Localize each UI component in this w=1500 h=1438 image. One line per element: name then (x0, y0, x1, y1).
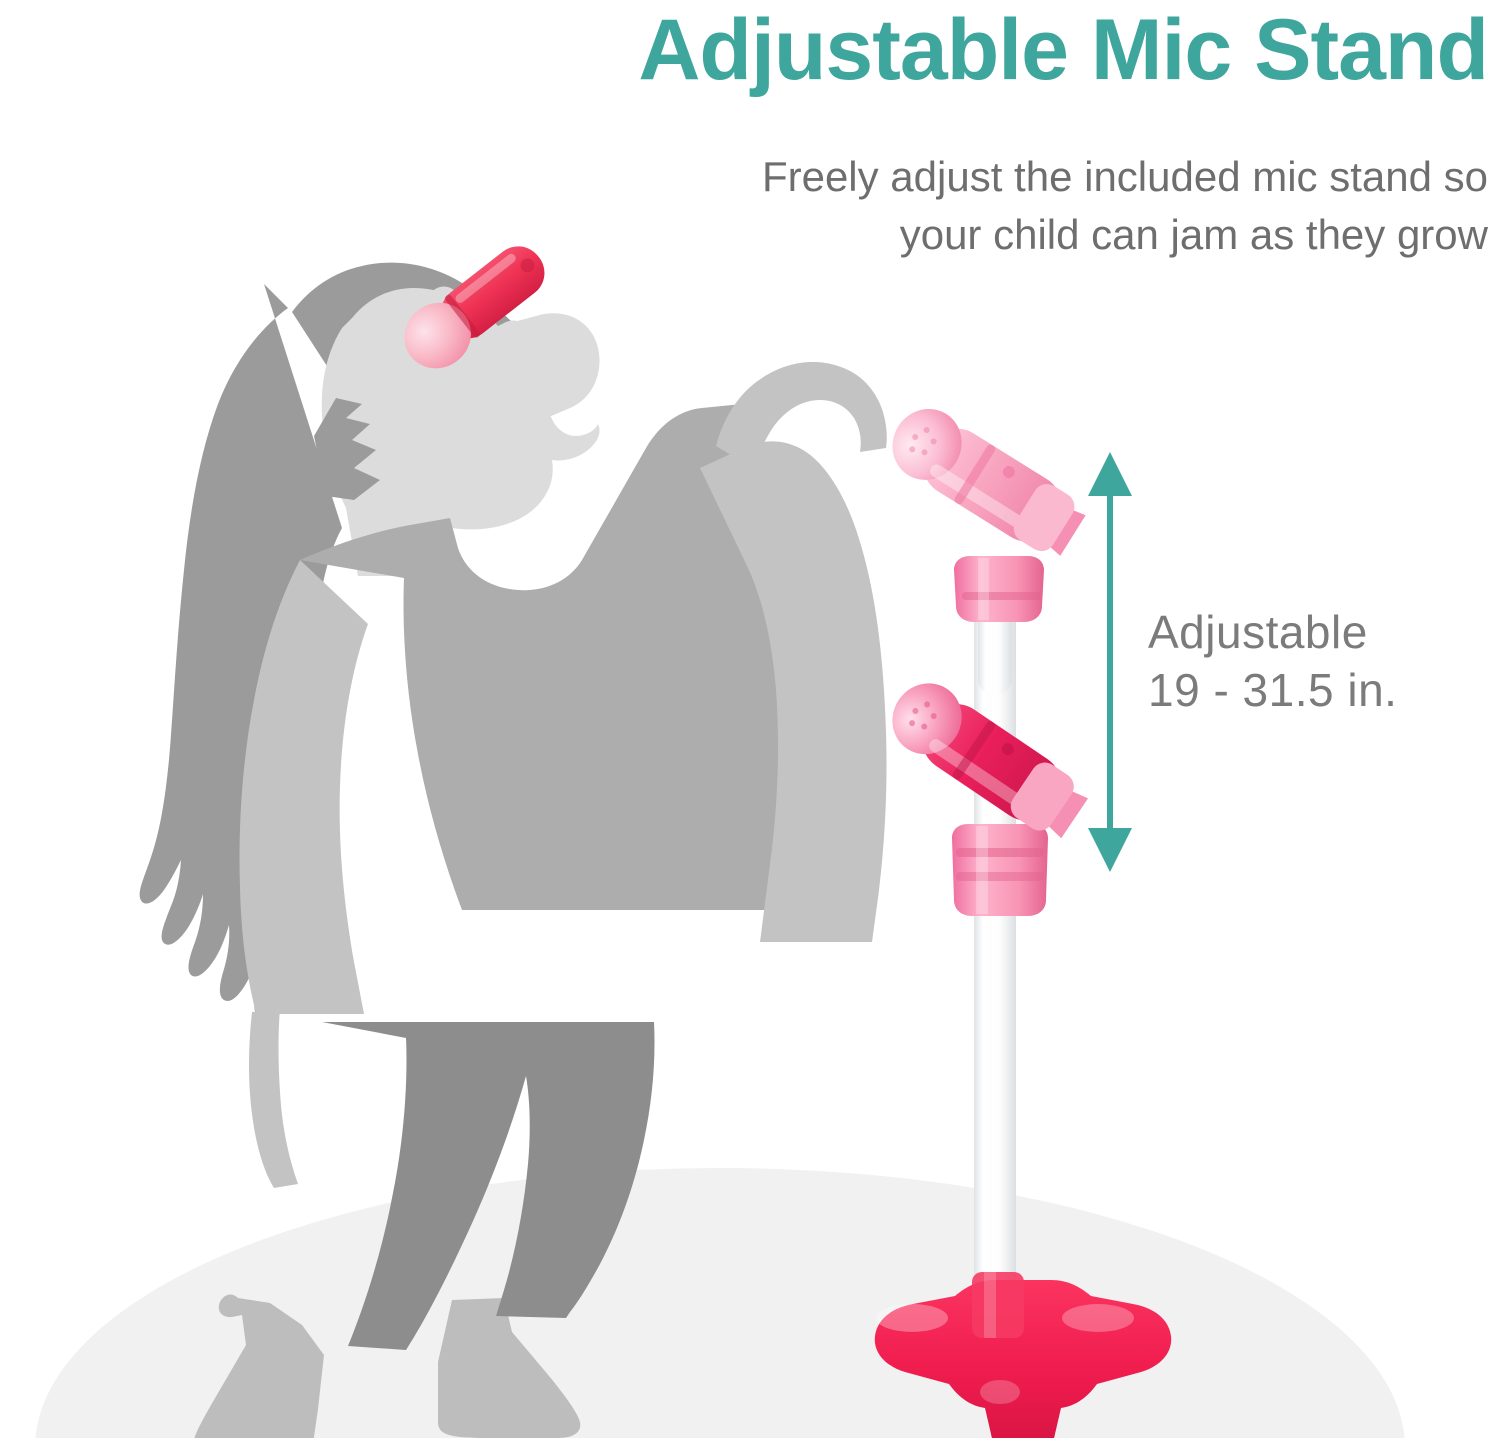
arrow-head-down-icon (1088, 828, 1132, 872)
arrow-head-up-icon (1088, 452, 1132, 496)
page-title: Adjustable Mic Stand (0, 2, 1488, 98)
stand-collar-lower (952, 824, 1048, 916)
sweater-silhouette (240, 404, 887, 1188)
page-subtitle-line-1: Freely adjust the included mic stand so (380, 148, 1488, 206)
adjustable-range-label-line-1: Adjustable (1148, 603, 1448, 661)
adjustable-range-label: Adjustable 19 - 31.5 in. (1148, 603, 1448, 719)
stand-pole-upper (978, 575, 1012, 695)
adjustable-range-arrow (1084, 452, 1136, 872)
hair-silhouette (140, 263, 514, 1017)
face-neck-silhouette (314, 288, 600, 576)
upper-microphone-light-pink (879, 396, 1092, 566)
lower-microphone-deep-pink (879, 670, 1095, 848)
page-subtitle-line-2: your child can jam as they grow (380, 206, 1488, 264)
page-subtitle: Freely adjust the included mic stand so … (380, 148, 1488, 264)
stand-collar-upper (954, 556, 1044, 622)
product-feature-image: Adjustable Mic Stand Freely adjust the i… (0, 0, 1500, 1438)
floor-shadow-ellipse (35, 1168, 1405, 1438)
adjustable-range-label-line-2: 19 - 31.5 in. (1148, 661, 1448, 719)
raised-arm-hand-silhouette (430, 287, 887, 470)
